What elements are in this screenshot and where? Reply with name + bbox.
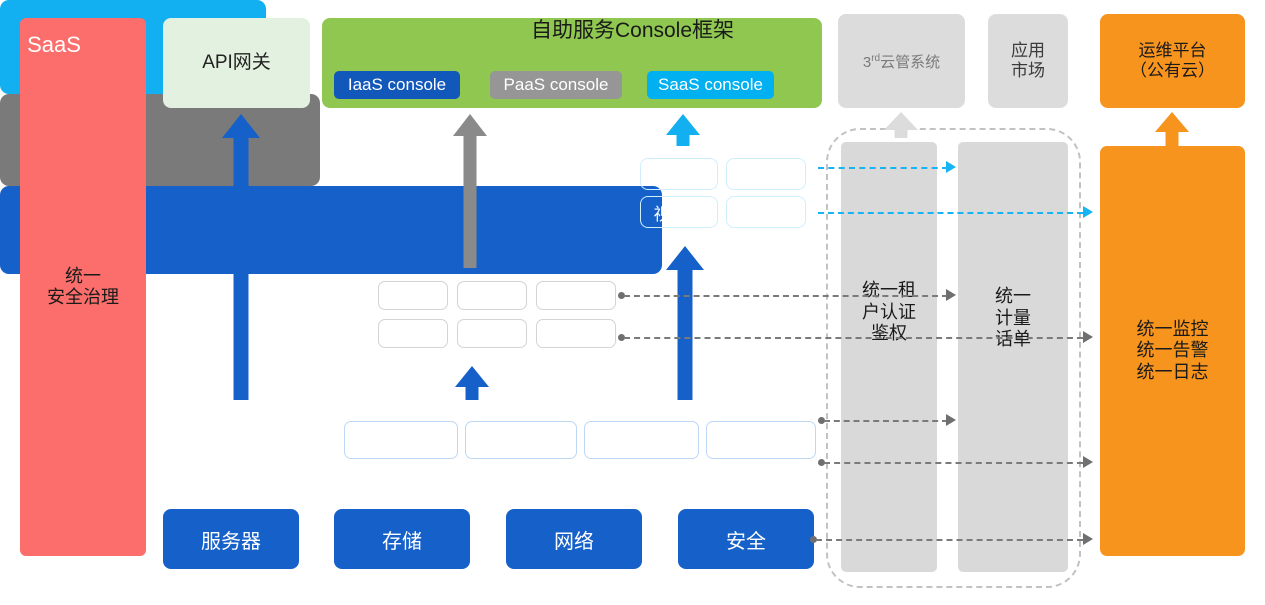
paas-chip-roma[interactable]: ROMA (378, 281, 448, 310)
console-frame-title: 自助服务Console框架 (0, 14, 1265, 44)
metering-column (958, 142, 1068, 572)
connector-arrowhead-base-ops (1083, 533, 1093, 545)
architecture-diagram: 统一 安全治理 API网关 自助服务Console框架 IaaS console… (0, 0, 1265, 605)
base-resource-storage[interactable]: 存储 (334, 509, 470, 569)
unified-infrastructure-label: 统一基础设施服务 (172, 427, 340, 456)
saas-chip-iot[interactable]: IoT (726, 158, 806, 190)
saas-console-chip[interactable]: SaaS console (647, 71, 774, 99)
connector-arrowhead-saas-ops (1083, 206, 1093, 218)
arrow-infra-to-api-gateway (222, 114, 260, 400)
third-cloud-label: 3rd云管系统 (863, 51, 940, 72)
arrow-infra-to-saas (666, 246, 704, 400)
connector-arrowhead-infra-ops (1083, 456, 1093, 468)
base-resource-security[interactable]: 安全 (678, 509, 814, 569)
connector-base-to-ops (816, 539, 1083, 541)
app-market-box: 应用 市场 (988, 14, 1068, 108)
connector-arrowhead-paas-ops (1083, 331, 1093, 343)
third-party-cloud-mgmt-box: 3rd云管系统 (838, 14, 965, 108)
connector-infra-to-ops (824, 462, 1083, 464)
arrow-infra-to-paas (455, 366, 489, 400)
connector-infra-to-auth (824, 420, 948, 422)
connector-arrowhead-paas-auth (946, 289, 956, 301)
infra-chip-network[interactable]: Network (584, 421, 699, 459)
paas-chip-cache[interactable]: 缓存 (457, 319, 527, 348)
paas-layer-label: PaaS (308, 300, 380, 327)
tenant-auth-column (841, 142, 937, 572)
base-resource-network[interactable]: 网络 (506, 509, 642, 569)
ops-platform-top-box: 运维平台 （公有云） (1100, 14, 1245, 108)
paas-chip-dgc[interactable]: DGC (457, 281, 527, 310)
saas-chip-desktop-cloud[interactable]: 桌面云 (726, 196, 806, 228)
saas-layer-label: SaaS (10, 32, 98, 58)
saas-chip-video-cloud[interactable]: 视频云 (640, 196, 718, 228)
connector-paas-to-auth (624, 295, 948, 297)
base-resource-server[interactable]: 服务器 (163, 509, 299, 569)
ops-platform-column: 统一监控 统一告警 统一日志 (1100, 146, 1245, 556)
metering-label: 统一 计量 话单 (958, 286, 1068, 351)
connector-arrowhead-saas-auth (946, 161, 956, 173)
paas-console-chip[interactable]: PaaS console (490, 71, 622, 99)
paas-chip-bigdata[interactable]: 大数据 (536, 319, 616, 348)
arrow-up-to-third-party-cloud (884, 112, 918, 138)
connector-arrowhead-infra-auth (946, 414, 956, 426)
infra-chip-cce[interactable]: CCE (706, 421, 816, 459)
paas-chip-database[interactable]: 数据库 (378, 319, 448, 348)
tenant-auth-label: 统一租 户认证 鉴权 (841, 280, 937, 345)
infra-chip-storage[interactable]: Storage (465, 421, 577, 459)
infra-chip-compute[interactable]: Compute (344, 421, 458, 459)
connector-saas-to-ops (818, 212, 1083, 214)
security-governance-panel: 统一 安全治理 (20, 18, 146, 556)
paas-chip-modelarts[interactable]: ModelArts (536, 281, 616, 310)
arrow-saas-to-console (666, 114, 700, 146)
arrow-paas-to-console (453, 114, 487, 268)
saas-chip-blockchain[interactable]: 区块链 (640, 158, 718, 190)
connector-saas-to-auth (818, 167, 948, 169)
connector-paas-to-ops (624, 337, 1083, 339)
arrow-up-to-ops-platform (1155, 112, 1189, 146)
iaas-console-chip[interactable]: IaaS console (334, 71, 460, 99)
